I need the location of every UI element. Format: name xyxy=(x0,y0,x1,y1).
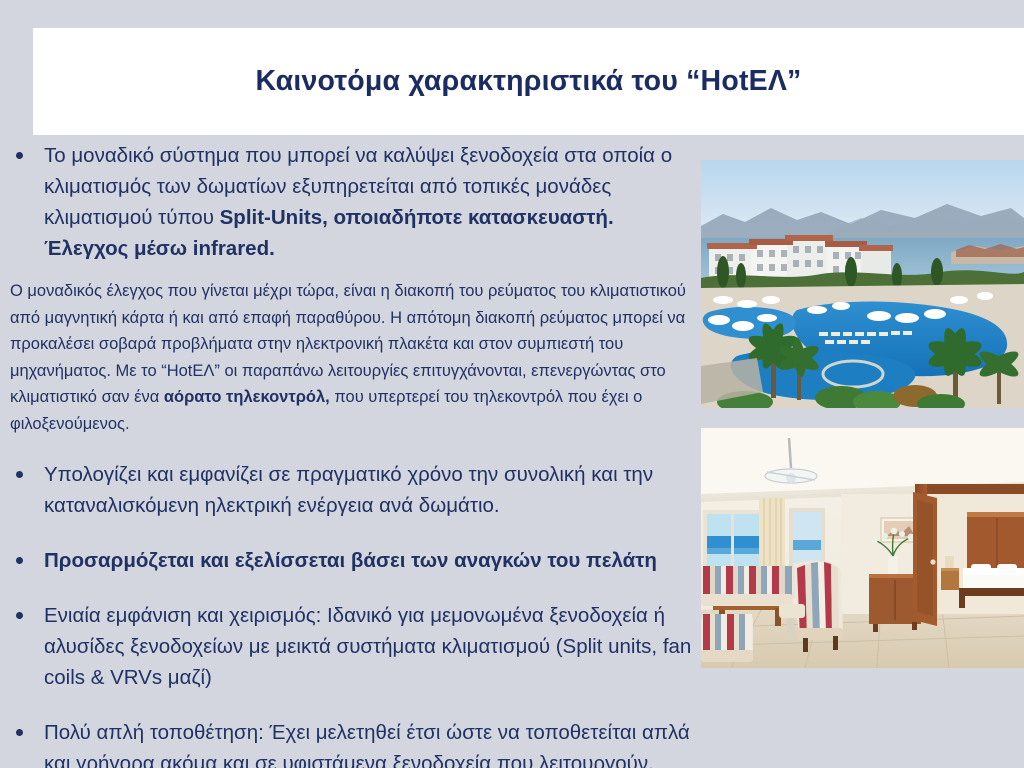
bullet-2-text: Υπολογίζει και εμφανίζει σε πραγματικό χ… xyxy=(44,459,700,521)
list-item: Πολύ απλή τοποθέτηση: Έχει μελετηθεί έτσ… xyxy=(0,717,700,768)
spacer xyxy=(0,437,700,459)
list-item: Υπολογίζει και εμφανίζει σε πραγματικό χ… xyxy=(0,459,700,521)
resort-pool-aerial-photo xyxy=(701,160,1024,408)
bullet-dot-icon xyxy=(16,557,23,564)
resort-photo-graphic xyxy=(701,160,1024,408)
bullet-dot-icon xyxy=(16,471,23,478)
page-title: Καινοτόμα χαρακτηριστικά του “HotEΛ” xyxy=(33,28,1024,135)
suite-photo-graphic xyxy=(701,428,1024,668)
spacer xyxy=(0,521,700,545)
bullet-dot-icon xyxy=(16,152,23,159)
paragraph-bold: αόρατο τηλεκοντρόλ, xyxy=(164,388,330,406)
spacer xyxy=(0,693,700,717)
list-item: Το μοναδικό σύστημα που μπορεί να καλύψε… xyxy=(0,140,700,264)
bullet-dot-icon xyxy=(16,612,23,619)
title-band: Καινοτόμα χαρακτηριστικά του “HotEΛ” xyxy=(33,28,1024,135)
spacer xyxy=(0,576,700,600)
feature-bullet-list: Το μοναδικό σύστημα που μπορεί να καλύψε… xyxy=(0,140,700,768)
bullet-4-text: Ενιαία εμφάνιση και χειρισμός: Ιδανικό γ… xyxy=(44,600,700,693)
presentation-slide: Καινοτόμα χαρακτηριστικά του “HotEΛ” Το … xyxy=(0,0,1024,768)
list-item: Προσαρμόζεται και εξελίσσεται βάσει των … xyxy=(0,545,700,576)
hotel-suite-interior-photo xyxy=(701,428,1024,668)
slide-body-column: Το μοναδικό σύστημα που μπορεί να καλύψε… xyxy=(0,140,700,768)
bullet-dot-icon xyxy=(16,729,23,736)
detail-paragraph: Ο μοναδικός έλεγχος που γίνεται μέχρι τώ… xyxy=(0,278,700,437)
bullet-5-text: Πολύ απλή τοποθέτηση: Έχει μελετηθεί έτσ… xyxy=(44,717,700,768)
list-item: Ενιαία εμφάνιση και χειρισμός: Ιδανικό γ… xyxy=(0,600,700,693)
bullet-3-text: Προσαρμόζεται και εξελίσσεται βάσει των … xyxy=(44,545,700,576)
spacer xyxy=(0,264,700,278)
bullet-1-text: Το μοναδικό σύστημα που μπορεί να καλύψε… xyxy=(44,140,700,264)
